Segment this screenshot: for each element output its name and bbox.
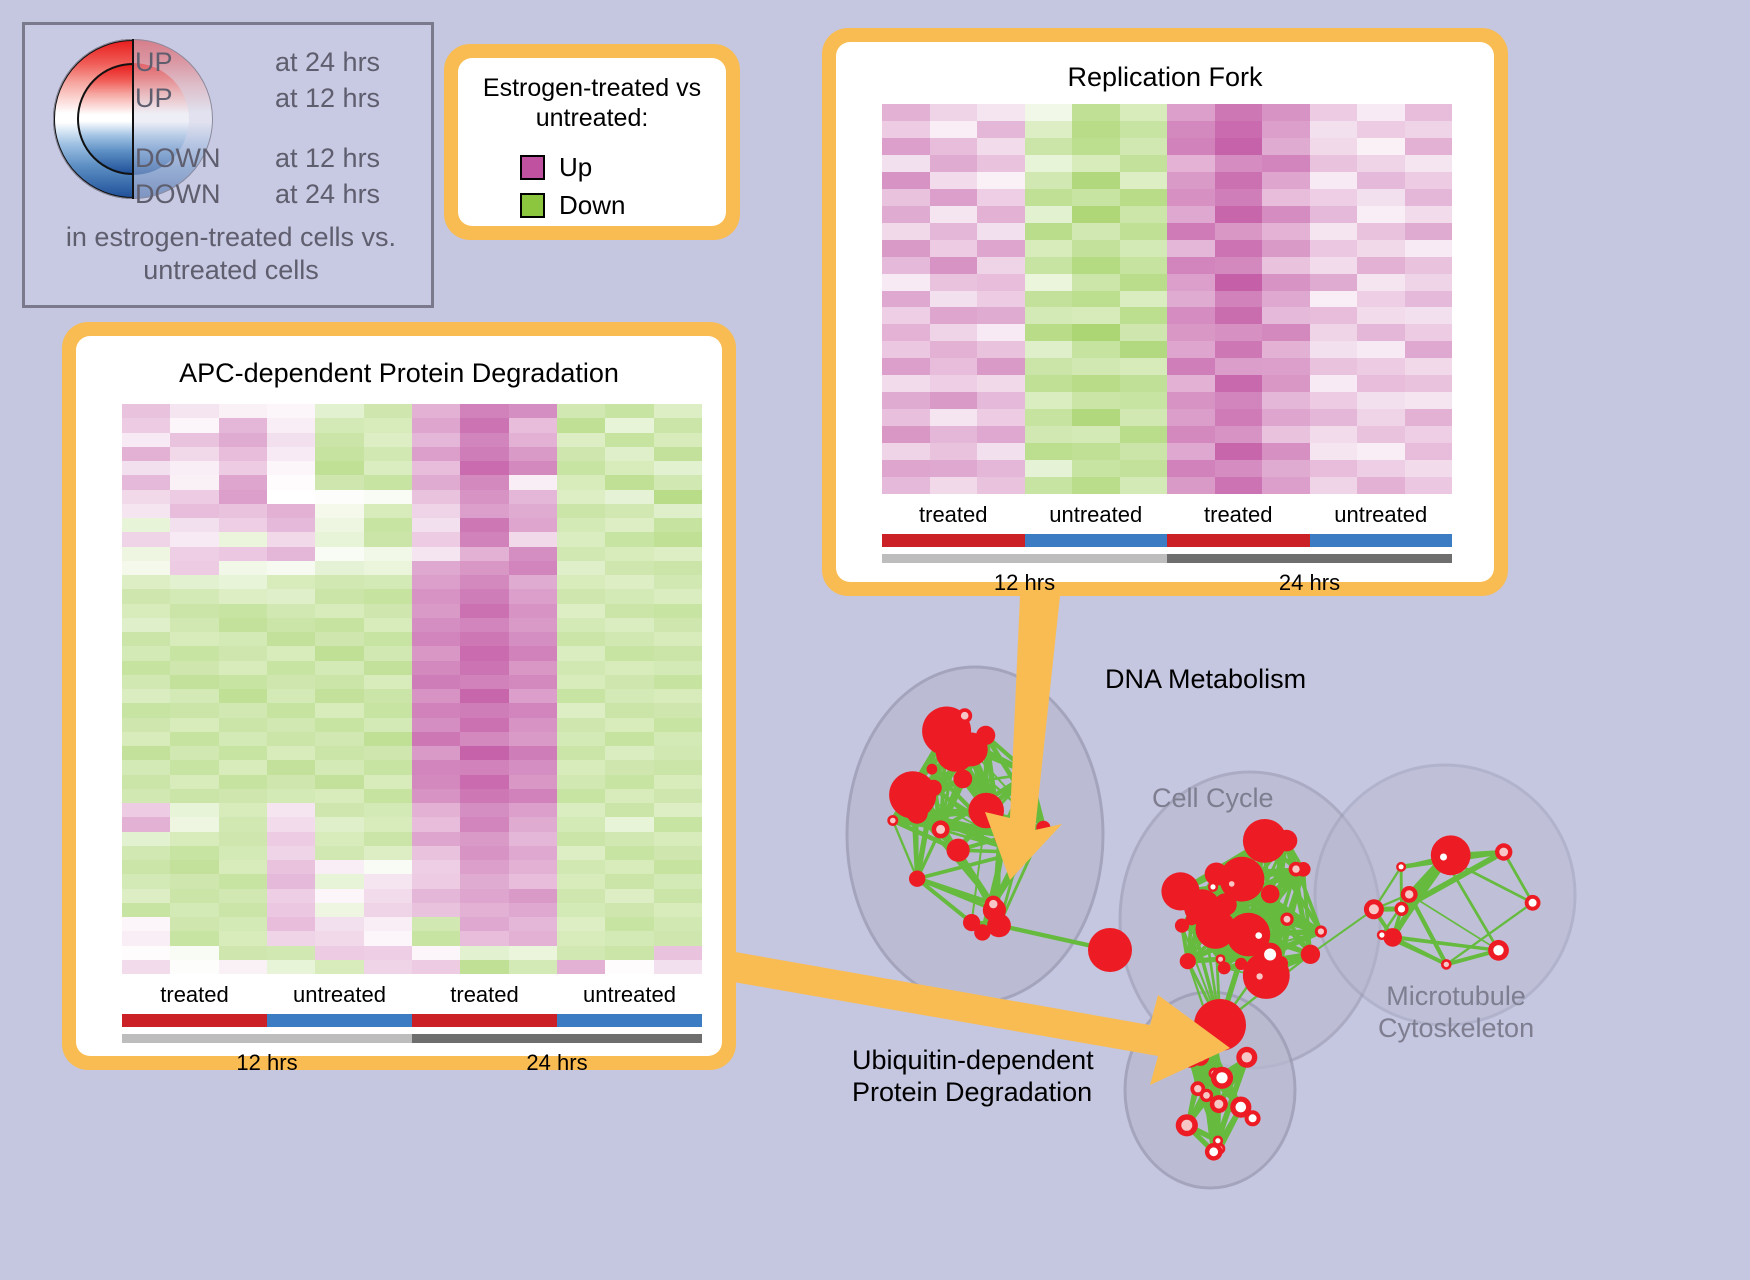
heatmap-cell (219, 689, 267, 703)
heatmap-cell (1357, 426, 1405, 443)
heatmap-cell (219, 504, 267, 518)
wheel-time-label: at 12 hrs (275, 83, 380, 114)
heatmap-cell (412, 646, 460, 660)
heatmap-cell (412, 632, 460, 646)
heatmap-cell (654, 561, 702, 575)
heatmap-cell (1215, 341, 1263, 358)
heatmap-cell (605, 404, 653, 418)
network-node[interactable] (1088, 928, 1132, 972)
heatmap-cell (557, 461, 605, 475)
heatmap-cell (1025, 341, 1073, 358)
heatmap-cell (509, 518, 557, 532)
heatmap-cell (1405, 375, 1453, 392)
heatmap-cell (267, 618, 315, 632)
heatmap-cell (122, 817, 170, 831)
heatmap-cell (412, 832, 460, 846)
network-node[interactable] (1214, 893, 1237, 916)
heatmap-cell (1405, 104, 1453, 121)
heatmap-cell (267, 661, 315, 675)
network-node-core (1493, 945, 1503, 955)
heatmap-cell (1405, 257, 1453, 274)
heatmap-cell (509, 803, 557, 817)
network-node-core (1379, 932, 1384, 937)
heatmap-cell (930, 223, 978, 240)
heatmap-cell (1120, 138, 1168, 155)
group-label: treated (412, 982, 557, 1008)
heatmap-cell (170, 575, 218, 589)
heatmap-cell (412, 518, 460, 532)
network-node[interactable] (1276, 830, 1298, 852)
heatmap-cell (315, 661, 363, 675)
heatmap-cell (412, 775, 460, 789)
heatmap-cell (1357, 223, 1405, 240)
heatmap-cell (1262, 291, 1310, 308)
heatmap-cell (882, 477, 930, 494)
heatmap-cell (605, 589, 653, 603)
heatmap-cell (170, 632, 218, 646)
heatmap-cell (557, 946, 605, 960)
heatmap-cell (1357, 341, 1405, 358)
group-label: untreated (557, 982, 702, 1008)
heatmap-cell (219, 404, 267, 418)
network-node[interactable] (1237, 921, 1250, 934)
heatmap-cell (412, 732, 460, 746)
network-node[interactable] (1180, 953, 1196, 969)
wheel-legend-caption: in estrogen-treated cells vs. untreated … (25, 221, 437, 288)
network-node-core (1255, 932, 1262, 939)
heatmap-cell (1072, 460, 1120, 477)
heatmap-cell (1310, 104, 1358, 121)
heatmap-cell (219, 461, 267, 475)
wheel-direction-label: DOWN (135, 179, 220, 210)
network-node[interactable] (976, 726, 995, 745)
heatmap-cell (977, 307, 1025, 324)
heatmap-cell (1167, 121, 1215, 138)
heatmap-cell (1215, 443, 1263, 460)
heatmap-cell (170, 803, 218, 817)
heatmap-cell (977, 443, 1025, 460)
heatmap-cell (1310, 426, 1358, 443)
heatmap-cell (930, 138, 978, 155)
wheel-divider (132, 39, 134, 199)
heatmap-cell (1215, 138, 1263, 155)
heatmap-cell (1215, 291, 1263, 308)
heatmap-cell (977, 358, 1025, 375)
time-segment-24 (1167, 554, 1452, 563)
heatmap-cell (930, 189, 978, 206)
heatmap-cell (557, 832, 605, 846)
heatmap-cell (1357, 409, 1405, 426)
heatmap-cell (460, 675, 508, 689)
heatmap-cell (977, 375, 1025, 392)
network-node[interactable] (1036, 821, 1050, 835)
heatmap-cell (509, 661, 557, 675)
heatmap-cell (122, 475, 170, 489)
network-node[interactable] (1021, 766, 1037, 782)
heatmap-cell (122, 931, 170, 945)
heatmap-cell (654, 889, 702, 903)
heatmap-cell (605, 433, 653, 447)
network-node[interactable] (1205, 863, 1228, 886)
heatmap-cell (460, 433, 508, 447)
heatmap-cell (1025, 104, 1073, 121)
heatmap-cell (315, 874, 363, 888)
heatmap-cell (509, 832, 557, 846)
heatmap-cell (1025, 443, 1073, 460)
heatmap-cell (460, 832, 508, 846)
heatmap-cell (412, 874, 460, 888)
cluster-label-dna-metabolism: DNA Metabolism (1105, 663, 1306, 695)
heatmap-cell (1215, 189, 1263, 206)
heatmap-cell (267, 703, 315, 717)
heatmap-cell (364, 917, 412, 931)
wheel-time-label: at 12 hrs (275, 143, 380, 174)
heatmap-cell (1405, 341, 1453, 358)
heatmap-cell (977, 104, 1025, 121)
heatmap-cell (267, 889, 315, 903)
replication-fork-heatmap (882, 104, 1452, 494)
heatmap-cell (1072, 426, 1120, 443)
heatmap-cell (1025, 409, 1073, 426)
heatmap-cell (605, 746, 653, 760)
heatmap-cell (170, 675, 218, 689)
heatmap-cell (930, 460, 978, 477)
network-node-core (961, 712, 969, 720)
heatmap-cell (315, 532, 363, 546)
network-node[interactable] (907, 803, 928, 824)
heatmap-cell (1310, 257, 1358, 274)
heatmap-cell (170, 604, 218, 618)
heatmap-cell (1262, 240, 1310, 257)
heatmap-cell (315, 846, 363, 860)
heatmap-cell (605, 418, 653, 432)
heatmap-cell (1167, 307, 1215, 324)
heatmap-cell (412, 504, 460, 518)
network-node-core (1216, 1072, 1227, 1083)
heatmap-cell (412, 433, 460, 447)
network-node[interactable] (1261, 885, 1280, 904)
heatmap-cell (605, 604, 653, 618)
heatmap-cell (1357, 324, 1405, 341)
heatmap-cell (1310, 189, 1358, 206)
heatmap-cell (557, 746, 605, 760)
heatmap-cell (122, 903, 170, 917)
network-node-core (1229, 881, 1235, 887)
heatmap-cell (1215, 206, 1263, 223)
heatmap-cell (315, 404, 363, 418)
heatmap-cell (509, 917, 557, 931)
heatmap-cell (509, 903, 557, 917)
heatmap-cell (1120, 392, 1168, 409)
heatmap-cell (977, 426, 1025, 443)
heatmap-cell (557, 661, 605, 675)
heatmap-cell (122, 732, 170, 746)
heatmap-cell (1357, 189, 1405, 206)
heatmap-cell (219, 675, 267, 689)
heatmap-cell (219, 447, 267, 461)
heatmap-cell (267, 475, 315, 489)
heatmap-cell (364, 746, 412, 760)
heatmap-cell (219, 817, 267, 831)
heatmap-cell (267, 789, 315, 803)
group-label: treated (882, 502, 1025, 528)
heatmap-cell (315, 946, 363, 960)
heatmap-cell (882, 409, 930, 426)
time-segment-12 (122, 1034, 412, 1043)
heatmap-cell (122, 917, 170, 931)
treatment-segment-untreated-12 (1025, 534, 1168, 547)
network-node-core (1264, 949, 1276, 961)
network-node-core (1292, 865, 1299, 872)
heatmap-cell (1025, 257, 1073, 274)
network-node-core (989, 900, 997, 908)
heatmap-cell (170, 775, 218, 789)
heatmap-cell (364, 817, 412, 831)
heatmap-cell (654, 960, 702, 974)
heatmap-cell (122, 846, 170, 860)
heatmap-cell (977, 341, 1025, 358)
network-node[interactable] (947, 839, 970, 862)
heatmap-cell (882, 443, 930, 460)
heatmap-cell (364, 433, 412, 447)
heatmap-cell (1405, 155, 1453, 172)
heatmap-cell (1167, 409, 1215, 426)
heatmap-cell (654, 661, 702, 675)
wheel-direction-label: UP (135, 83, 173, 114)
heatmap-cell (930, 291, 978, 308)
heatmap-cell (412, 618, 460, 632)
heatmap-cell (930, 341, 978, 358)
heatmap-cell (882, 121, 930, 138)
heatmap-cell (509, 946, 557, 960)
heatmap-cell (1120, 426, 1168, 443)
heatmap-cell (557, 490, 605, 504)
apc-time-bar (122, 1034, 702, 1043)
heatmap-cell (1405, 206, 1453, 223)
wheel-direction-label: DOWN (135, 143, 220, 174)
heatmap-cell (882, 104, 930, 121)
heatmap-cell (1405, 291, 1453, 308)
heatmap-cell (1120, 189, 1168, 206)
heatmap-cell (654, 746, 702, 760)
heatmap-cell (1167, 375, 1215, 392)
heatmap-cell (605, 689, 653, 703)
heatmap-cell (315, 675, 363, 689)
heatmap-cell (412, 689, 460, 703)
heatmap-cell (122, 575, 170, 589)
heatmap-cell (315, 760, 363, 774)
heatmap-cell (1072, 341, 1120, 358)
heatmap-cell (1167, 257, 1215, 274)
heatmap-cell (977, 257, 1025, 274)
heatmap-cell (1310, 121, 1358, 138)
heatmap-cell (122, 775, 170, 789)
key-row-up: Up (520, 152, 592, 183)
heatmap-cell (1405, 138, 1453, 155)
network-node[interactable] (927, 764, 938, 775)
network-node[interactable] (968, 793, 1004, 829)
heatmap-cell (364, 931, 412, 945)
heatmap-cell (1120, 240, 1168, 257)
heatmap-cell (654, 789, 702, 803)
heatmap-cell (267, 903, 315, 917)
heatmap-cell (267, 447, 315, 461)
heatmap-cell (1310, 358, 1358, 375)
network-node[interactable] (909, 871, 925, 887)
heatmap-cell (930, 121, 978, 138)
network-node[interactable] (1161, 872, 1199, 910)
heatmap-cell (460, 889, 508, 903)
heatmap-cell (930, 155, 978, 172)
heatmap-cell (654, 475, 702, 489)
heatmap-cell (315, 433, 363, 447)
heatmap-cell (315, 504, 363, 518)
heatmap-cell (267, 589, 315, 603)
heatmap-cell (1025, 291, 1073, 308)
heatmap-cell (605, 931, 653, 945)
heatmap-cell (364, 775, 412, 789)
network-node[interactable] (1235, 958, 1247, 970)
heatmap-cell (605, 832, 653, 846)
heatmap-cell (412, 960, 460, 974)
heatmap-cell (654, 775, 702, 789)
heatmap-cell (364, 846, 412, 860)
heatmap-cell (1310, 341, 1358, 358)
heatmap-cell (460, 504, 508, 518)
heatmap-cell (1120, 121, 1168, 138)
heatmap-cell (170, 760, 218, 774)
apc-group-labels: treated untreated treated untreated (122, 982, 702, 1008)
heatmap-cell (364, 689, 412, 703)
heatmap-cell (557, 404, 605, 418)
heatmap-cell (1167, 155, 1215, 172)
heatmap-cell (1215, 460, 1263, 477)
heatmap-cell (1405, 358, 1453, 375)
heatmap-cell (1357, 104, 1405, 121)
heatmap-cell (1405, 426, 1453, 443)
heatmap-cell (315, 746, 363, 760)
heatmap-cell (557, 689, 605, 703)
heatmap-cell (930, 443, 978, 460)
heatmap-cell (509, 746, 557, 760)
network-node-core (890, 818, 896, 824)
heatmap-cell (1310, 223, 1358, 240)
heatmap-cell (1215, 477, 1263, 494)
heatmap-cell (219, 846, 267, 860)
heatmap-cell (509, 760, 557, 774)
heatmap-cell (605, 561, 653, 575)
heatmap-cell (460, 418, 508, 432)
heatmap-cell (509, 418, 557, 432)
network-node-core (1014, 847, 1025, 858)
heatmap-cell (1215, 104, 1263, 121)
heatmap-cell (930, 426, 978, 443)
heatmap-cell (1262, 324, 1310, 341)
time-label: 24 hrs (1167, 570, 1452, 596)
heatmap-cell (557, 561, 605, 575)
heatmap-cell (364, 547, 412, 561)
heatmap-cell (1357, 358, 1405, 375)
heatmap-cell (1072, 409, 1120, 426)
heatmap-cell (605, 547, 653, 561)
updown-key-card: Estrogen-treated vs untreated: Up Down (444, 44, 740, 240)
heatmap-cell (219, 832, 267, 846)
heatmap-cell (605, 903, 653, 917)
heatmap-cell (460, 518, 508, 532)
treatment-segment-untreated-24 (557, 1014, 702, 1027)
network-node[interactable] (1301, 945, 1320, 964)
heatmap-cell (122, 404, 170, 418)
heatmap-cell (219, 960, 267, 974)
heatmap-cell (1215, 172, 1263, 189)
heatmap-cell (1310, 443, 1358, 460)
heatmap-cell (557, 646, 605, 660)
heatmap-cell (460, 547, 508, 561)
heatmap-cell (170, 689, 218, 703)
heatmap-cell (315, 775, 363, 789)
heatmap-cell (412, 746, 460, 760)
heatmap-cell (412, 547, 460, 561)
heatmap-cell (122, 490, 170, 504)
heatmap-cell (509, 589, 557, 603)
network-node-core (1184, 1050, 1196, 1062)
heatmap-cell (1215, 274, 1263, 291)
heatmap-cell (557, 703, 605, 717)
heatmap-cell (267, 846, 315, 860)
heatmap-cell (1310, 392, 1358, 409)
heatmap-cell (364, 632, 412, 646)
heatmap-cell (412, 575, 460, 589)
heatmap-cell (460, 461, 508, 475)
heatmap-cell (654, 760, 702, 774)
heatmap-cell (605, 490, 653, 504)
network-node-core (1242, 1052, 1252, 1062)
heatmap-cell (509, 575, 557, 589)
heatmap-cell (219, 532, 267, 546)
heatmap-cell (654, 931, 702, 945)
heatmap-cell (509, 675, 557, 689)
heatmap-cell (267, 860, 315, 874)
heatmap-cell (1262, 409, 1310, 426)
heatmap-cell (654, 618, 702, 632)
heatmap-cell (1215, 375, 1263, 392)
network-node[interactable] (1194, 999, 1246, 1051)
heatmap-cell (364, 960, 412, 974)
group-label: treated (1167, 502, 1310, 528)
heatmap-cell (315, 589, 363, 603)
heatmap-cell (1405, 324, 1453, 341)
network-node[interactable] (1175, 919, 1189, 933)
heatmap-cell (412, 490, 460, 504)
heatmap-cell (122, 532, 170, 546)
heatmap-cell (170, 931, 218, 945)
heatmap-cell (509, 632, 557, 646)
heatmap-cell (882, 257, 930, 274)
heatmap-cell (1167, 223, 1215, 240)
heatmap-cell (267, 504, 315, 518)
heatmap-cell (654, 447, 702, 461)
heatmap-cell (930, 324, 978, 341)
heatmap-cell (122, 618, 170, 632)
network-node[interactable] (953, 770, 972, 789)
treatment-segment-untreated-24 (1310, 534, 1453, 547)
group-label: untreated (1310, 502, 1453, 528)
heatmap-cell (170, 532, 218, 546)
heatmap-cell (1120, 257, 1168, 274)
heatmap-cell (654, 803, 702, 817)
network-node[interactable] (974, 924, 990, 940)
heatmap-cell (315, 490, 363, 504)
